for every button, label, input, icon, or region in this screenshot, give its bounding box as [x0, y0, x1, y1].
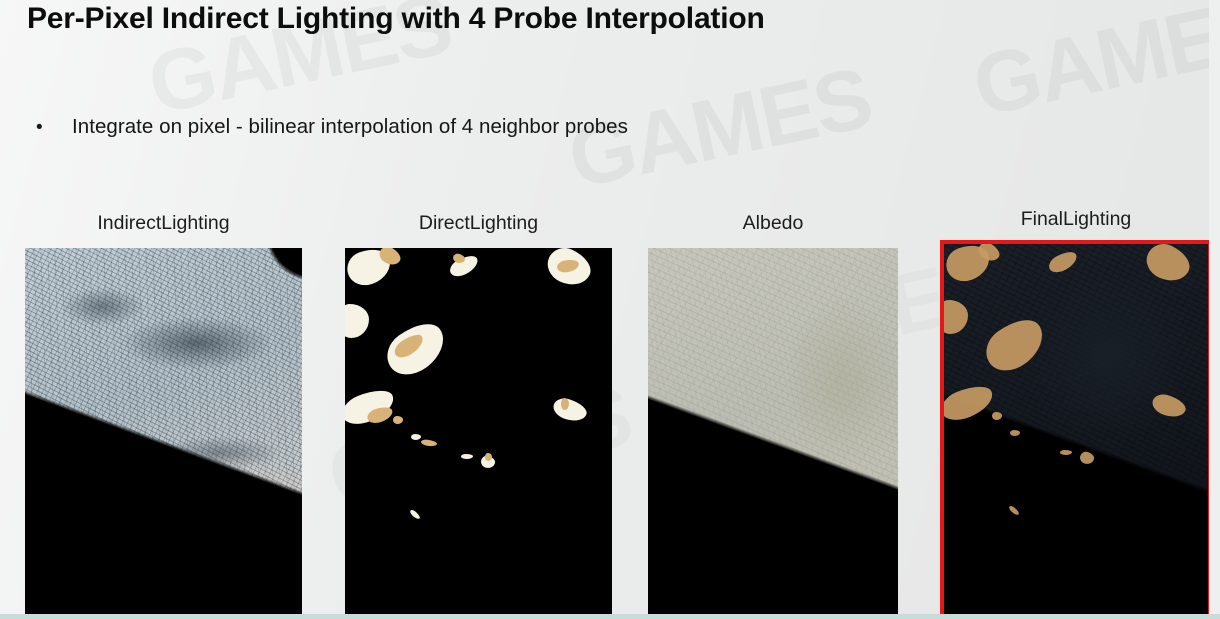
page-title: Per-Pixel Indirect Lighting with 4 Probe…	[27, 2, 765, 36]
panel-indirect-lighting: IndirectLighting	[25, 248, 302, 614]
final-light-patch	[1150, 391, 1189, 421]
final-light-patch	[1079, 450, 1095, 465]
panel-caption-albedo: Albedo	[648, 212, 898, 235]
bullet-item-label: Integrate on pixel - bilinear interpolat…	[72, 115, 628, 139]
image-albedo	[648, 248, 898, 614]
direct-light-patch	[409, 509, 421, 521]
direct-light-patch	[551, 395, 590, 425]
panel-caption-final-lighting: FinalLighting	[944, 208, 1208, 231]
final-light-patch	[1046, 248, 1080, 276]
final-light-patch	[992, 412, 1002, 420]
final-light-patch	[1008, 505, 1020, 517]
watermark-text: GAMES	[965, 0, 1220, 137]
panel-caption-indirect-lighting: IndirectLighting	[25, 212, 302, 235]
panel-caption-direct-lighting: DirectLighting	[345, 212, 612, 235]
final-light-patch	[1010, 430, 1020, 436]
panel-final-lighting: FinalLighting	[940, 240, 1212, 619]
image-final-lighting	[944, 244, 1208, 618]
slide-canvas: GAMESGAMESGAMESGAMESGAMES Per-Pixel Indi…	[0, 0, 1220, 619]
image-direct-lighting	[345, 248, 612, 614]
direct-light-patch	[345, 384, 398, 430]
direct-light-patch	[421, 439, 438, 447]
right-margin-strip	[1209, 0, 1220, 619]
direct-light-patch	[345, 304, 369, 338]
bottom-accent-line	[0, 615, 1220, 619]
final-light-patch	[978, 310, 1053, 380]
final-light-patch	[944, 380, 997, 426]
panel-albedo: Albedo	[648, 248, 898, 614]
bullet-item: • Integrate on pixel - bilinear interpol…	[36, 115, 628, 139]
bullet-marker-icon: •	[36, 118, 72, 137]
final-light-patch	[1060, 450, 1072, 455]
image-indirect-lighting	[25, 248, 302, 614]
panel-direct-lighting: DirectLighting	[345, 248, 612, 614]
final-light-patch	[1141, 244, 1195, 288]
direct-light-patch	[393, 416, 403, 424]
direct-light-patch	[411, 434, 421, 440]
direct-light-patch	[461, 454, 473, 459]
final-light-patch	[944, 300, 968, 334]
